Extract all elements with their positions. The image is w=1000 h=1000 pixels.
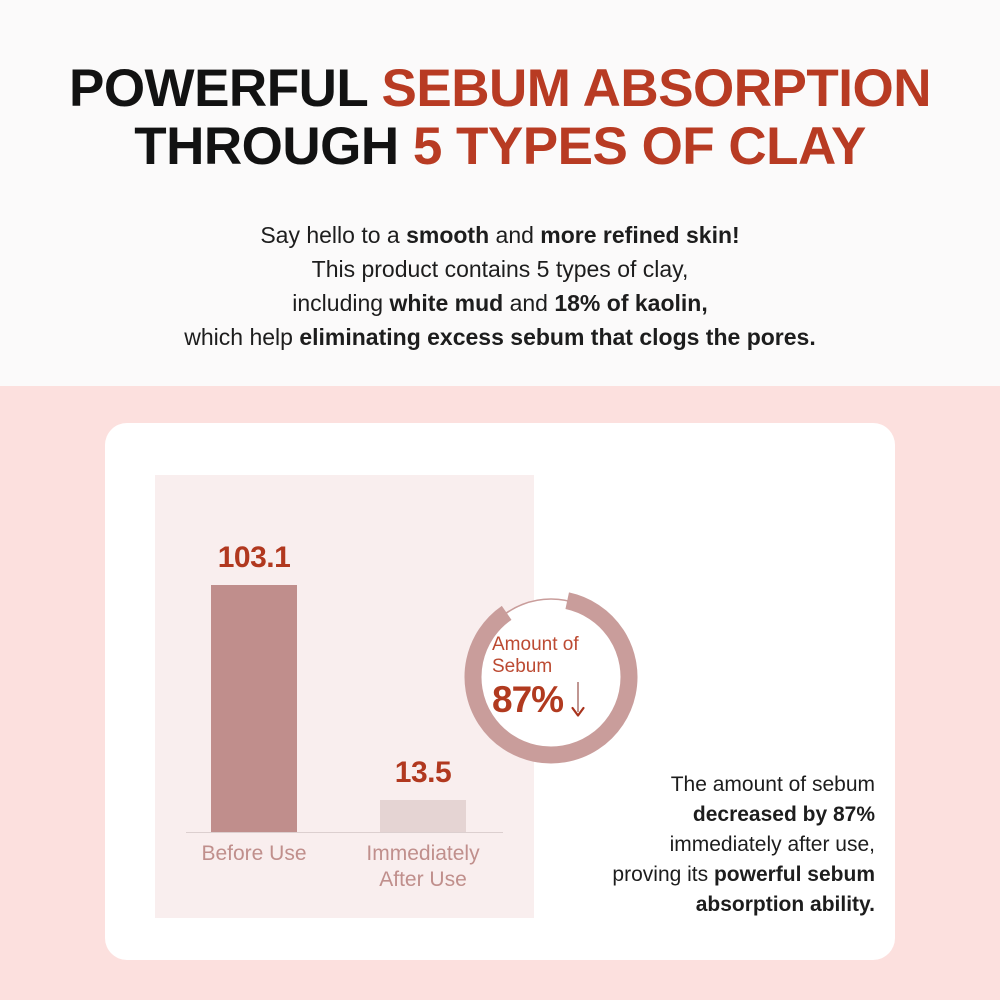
donut-caption-line-2: Sebum (492, 656, 552, 678)
bar-immediately-after-use (380, 800, 466, 832)
down-arrow-icon (570, 680, 586, 720)
subtitle-line-1-a: Say hello to a (260, 222, 406, 248)
infographic-page: POWERFUL SEBUM ABSORPTION THROUGH 5 TYPE… (0, 0, 1000, 1000)
subtitle-line-2: This product contains 5 types of clay, (0, 252, 1000, 286)
note-line-5-bold: absorption ability. (696, 893, 875, 916)
note-line-4: proving its powerful sebum (555, 860, 875, 890)
donut-percent-value: 87% (492, 680, 563, 720)
note-line-2: decreased by 87% (555, 800, 875, 830)
subtitle-line-1-b: smooth (406, 222, 489, 248)
note-line-4-a: proving its (612, 863, 714, 886)
title-line-1-dark: POWERFUL (69, 59, 382, 118)
subtitle-line-1: Say hello to a smooth and more refined s… (0, 218, 1000, 252)
title-line-2-dark: THROUGH (134, 117, 413, 176)
subtitle-line-3-c: and (503, 290, 554, 316)
subtitle-block: Say hello to a smooth and more refined s… (0, 218, 1000, 354)
donut-text-group: Amount of Sebum 87% (459, 585, 643, 769)
chart-baseline-axis (186, 832, 503, 833)
subtitle-line-1-d: more refined skin! (540, 222, 739, 248)
note-line-5: absorption ability. (555, 890, 875, 920)
donut-value-row: 87% (492, 680, 586, 720)
subtitle-line-3: including white mud and 18% of kaolin, (0, 286, 1000, 320)
sebum-donut-badge: Amount of Sebum 87% (459, 585, 643, 769)
bar-value-before-use: 103.1 (186, 541, 322, 575)
title-line-1-red: SEBUM ABSORPTION (382, 59, 932, 118)
subtitle-line-3-b: white mud (389, 290, 503, 316)
bar-label-before-use: Before Use (179, 841, 329, 867)
note-line-3: immediately after use, (555, 830, 875, 860)
donut-caption-line-1: Amount of (492, 634, 579, 656)
bar-before-use (211, 585, 297, 832)
hero-section: POWERFUL SEBUM ABSORPTION THROUGH 5 TYPE… (0, 0, 1000, 386)
note-line-1: The amount of sebum (555, 770, 875, 800)
subtitle-line-3-d: 18% of kaolin, (554, 290, 707, 316)
subtitle-line-3-a: including (292, 290, 389, 316)
subtitle-line-1-c: and (489, 222, 540, 248)
title-line-1: POWERFUL SEBUM ABSORPTION (0, 60, 1000, 118)
page-title: POWERFUL SEBUM ABSORPTION THROUGH 5 TYPE… (0, 60, 1000, 176)
subtitle-line-4-b: eliminating excess sebum that clogs the … (299, 324, 815, 350)
title-line-2: THROUGH 5 TYPES OF CLAY (0, 118, 1000, 176)
subtitle-line-4: which help eliminating excess sebum that… (0, 320, 1000, 354)
title-line-2-red: 5 TYPES OF CLAY (413, 117, 866, 176)
note-line-4-bold: powerful sebum (714, 863, 875, 886)
bar-label-after-use: Immediately After Use (348, 841, 498, 893)
subtitle-line-4-a: which help (184, 324, 299, 350)
summary-note: The amount of sebum decreased by 87% imm… (555, 770, 875, 920)
note-line-2-bold: decreased by 87% (693, 803, 875, 826)
